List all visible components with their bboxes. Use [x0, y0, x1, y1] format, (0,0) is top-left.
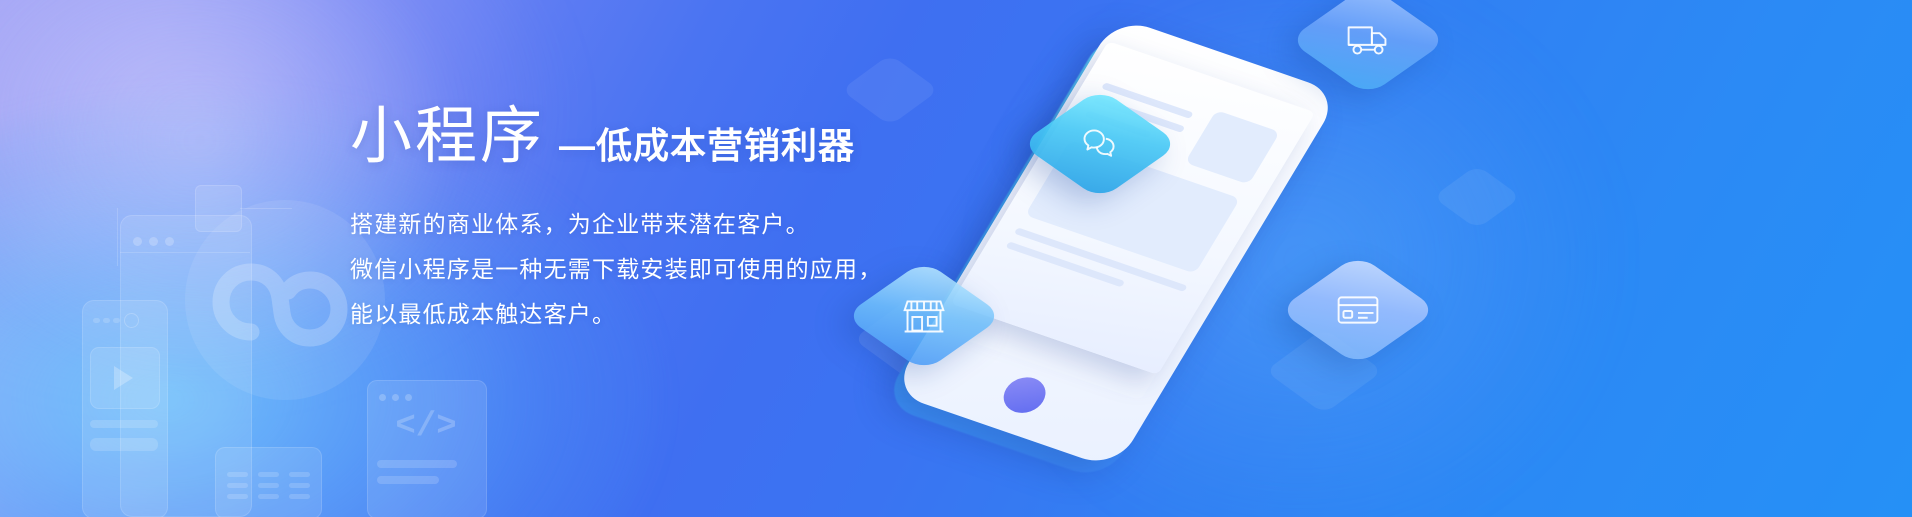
- home-button[interactable]: [996, 372, 1053, 418]
- browser-window-decor: [120, 215, 252, 517]
- hero-illustration: [890, 0, 1912, 517]
- video-card-decor: [82, 300, 168, 517]
- list-card-decor: [215, 447, 322, 517]
- card-icon: [1335, 292, 1382, 329]
- promo-banner: </> 小程序 —低成本营销利器 搭建新的商业体系，为企业带来潜在客户。 微信小…: [0, 0, 1912, 517]
- headline-main: 小程序: [350, 106, 545, 168]
- truck-icon: [1345, 22, 1392, 59]
- chat-icon: [1079, 123, 1122, 166]
- floating-cube: [1433, 165, 1521, 229]
- square-decor: [195, 185, 242, 232]
- phone-device: [940, 18, 1360, 517]
- code-window-decor: [367, 380, 487, 517]
- shop-icon: [902, 296, 947, 337]
- video-thumb-decor: [90, 347, 160, 409]
- headline-sub: —低成本营销利器: [559, 128, 855, 168]
- play-icon: [114, 366, 133, 390]
- code-icon: </>: [377, 410, 475, 444]
